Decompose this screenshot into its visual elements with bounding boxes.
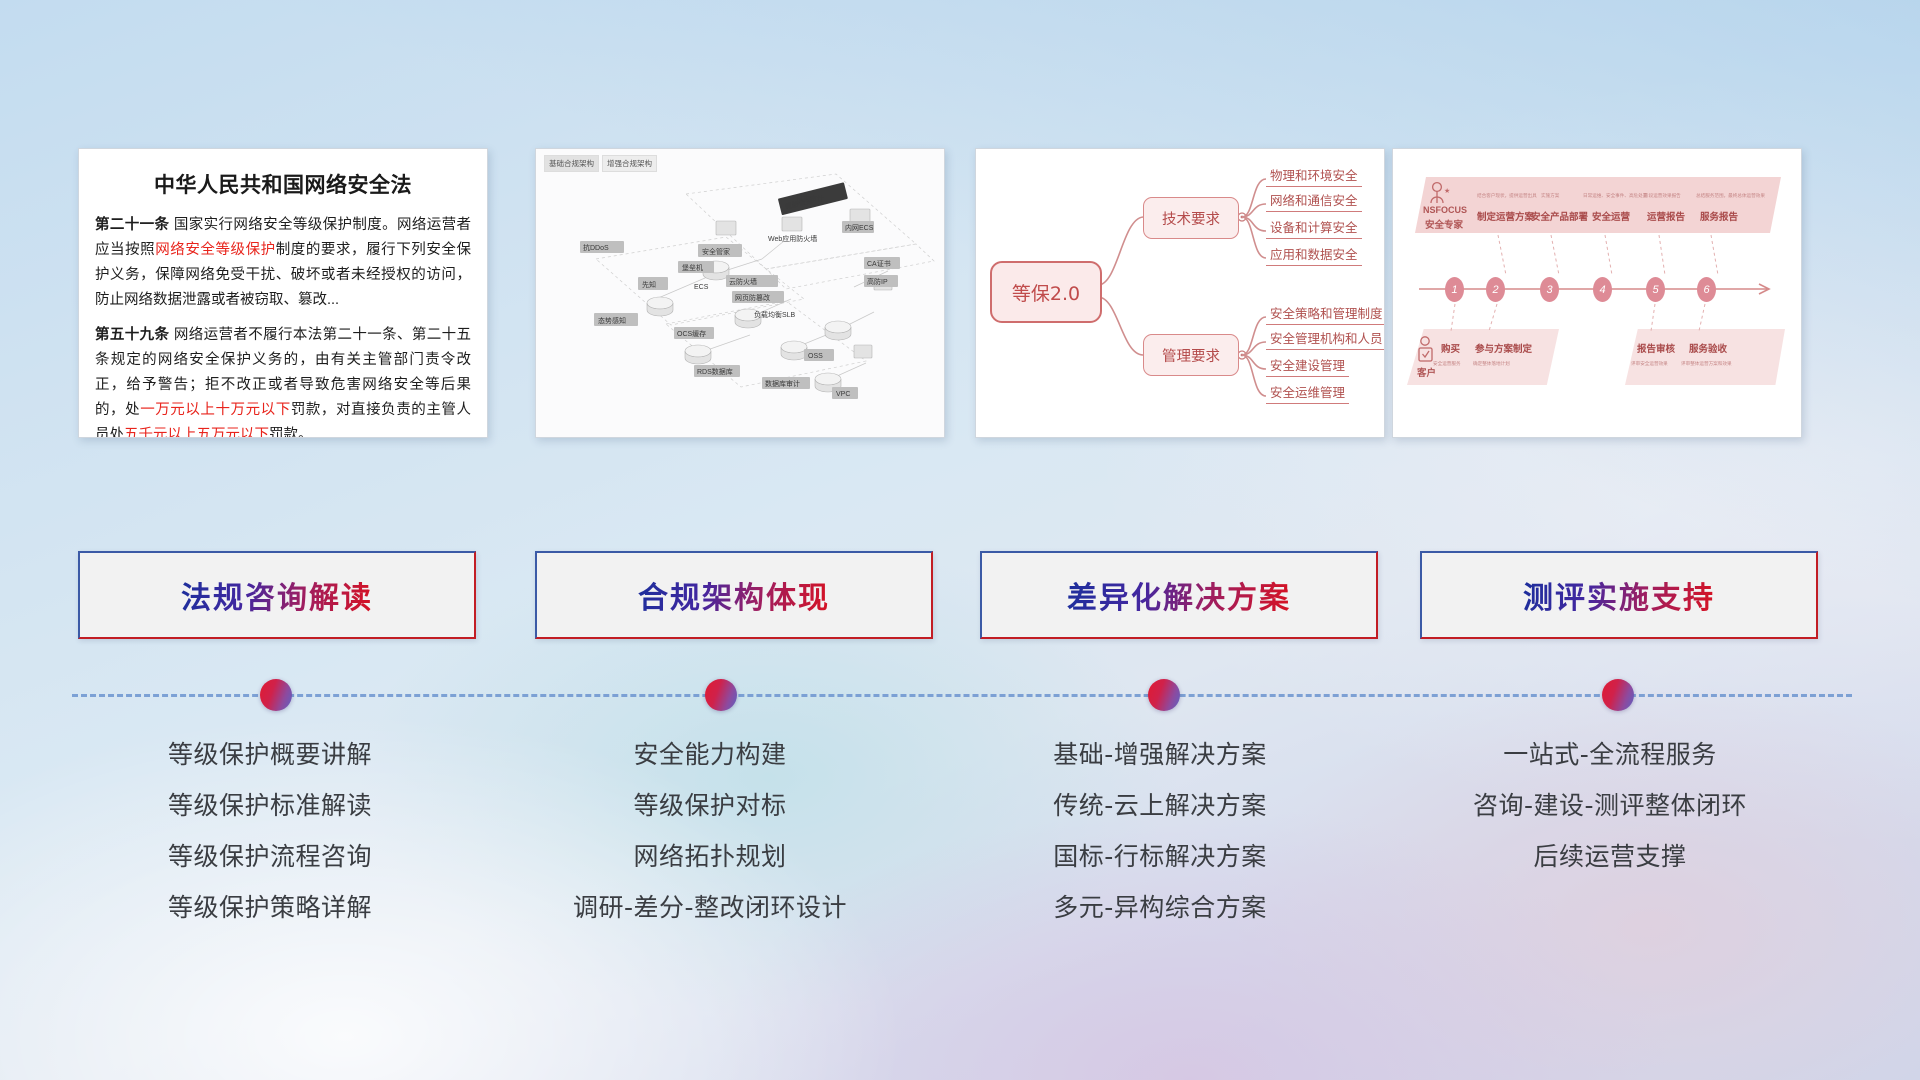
svg-text:安全管家: 安全管家 — [702, 247, 730, 256]
mindmap-canvas: 等保2.0 技术要求 物理和环境安全 网络和通信安全 设备和计算安全 应用和数据… — [976, 149, 1384, 437]
nsfocus-top-step-5: 服务报告 — [1700, 209, 1738, 223]
law-paragraph-59: 第五十九条 网络运营者不履行本法第二十一条、第二十五条规定的网络安全保护义务的，… — [95, 323, 471, 438]
nsfocus-bottom-step-1: 购买 — [1441, 341, 1460, 355]
list-item: 等级保护标准解读 — [60, 793, 480, 818]
mindmap-leaf-tech-1: 物理和环境安全 — [1266, 165, 1362, 187]
expert-person-icon — [1431, 183, 1443, 203]
bottom-list-2: 安全能力构建 等级保护对标 网络拓扑规划 调研-差分-整改闭环设计 — [500, 742, 920, 946]
expert-star-icon: ★ — [1444, 187, 1450, 195]
bottom-list-1: 等级保护概要讲解 等级保护标准解读 等级保护流程咨询 等级保护策略详解 — [60, 742, 480, 946]
svg-text:网页防篡改: 网页防篡改 — [735, 293, 770, 302]
law-article-59-text-c: 罚款。 — [269, 427, 313, 439]
law-body: 中华人民共和国网络安全法 第二十一条 国家实行网络安全等级保护制度。网络运营者应… — [79, 149, 487, 437]
section-title-box-1[interactable]: 法规咨询解读 — [78, 551, 476, 639]
timeline-node-6: 6 — [1697, 277, 1716, 302]
nsfocus-top-step-4: 运营报告 — [1647, 209, 1685, 223]
timeline-dashed-line — [72, 694, 1852, 697]
customer-person-icon — [1419, 337, 1432, 361]
nsfocus-top-step-3: 安全运营 — [1592, 209, 1630, 223]
svg-text:负载均衡SLB: 负载均衡SLB — [754, 310, 796, 319]
mindmap-leaf-mgmt-2: 安全管理机构和人员 — [1266, 328, 1385, 350]
rail-node-1[interactable] — [260, 679, 292, 711]
mindmap-leaf-mgmt-1: 安全策略和管理制度 — [1266, 303, 1385, 325]
list-item: 等级保护对标 — [500, 793, 920, 818]
svg-text:OSS: OSS — [808, 353, 823, 360]
arch-node-labels: 安全管家 先知 态势感知 堡垒机 抗DDoS 网页防篡改 OCS缓存 RDS数据… — [580, 194, 900, 399]
section-title-label-2: 合规架构体现 — [638, 573, 830, 617]
section-title-row: 法规咨询解读 合规架构体现 差异化解决方案 测评实施支持 — [0, 551, 1920, 641]
nsfocus-bottom-sub-4: 评审整体运营方案和效果 — [1681, 361, 1732, 367]
timeline-node-5: 5 — [1646, 277, 1665, 302]
architecture-canvas: 基础合规架构 增强合规架构 — [536, 149, 944, 437]
section-title-box-4[interactable]: 测评实施支持 — [1420, 551, 1818, 639]
nsfocus-customer-label: 客户 — [1417, 365, 1436, 379]
svg-text:态势感知: 态势感知 — [598, 316, 626, 325]
mindmap-leaf-mgmt-3: 安全建设管理 — [1266, 355, 1349, 377]
list-item: 国标-行标解决方案 — [950, 844, 1370, 869]
svg-text:云防火墙: 云防火墙 — [729, 277, 757, 286]
rail-node-2[interactable] — [705, 679, 737, 711]
nsfocus-bottom-step-2: 参与方案制定 — [1475, 341, 1532, 355]
nsfocus-top-sub-5: 总结服务范围，最终总体运营效果 — [1696, 193, 1765, 199]
list-item: 等级保护流程咨询 — [60, 844, 480, 869]
list-item: 基础-增强解决方案 — [950, 742, 1370, 767]
bottom-list-row: 等级保护概要讲解 等级保护标准解读 等级保护流程咨询 等级保护策略详解 安全能力… — [0, 742, 1920, 962]
list-item: 一站式-全流程服务 — [1400, 742, 1820, 767]
rail-node-4[interactable] — [1602, 679, 1634, 711]
mindmap-root: 等保2.0 — [990, 261, 1102, 323]
section-title-box-2[interactable]: 合规架构体现 — [535, 551, 933, 639]
timeline-node-3: 3 — [1540, 277, 1559, 302]
list-item: 网络拓扑规划 — [500, 844, 920, 869]
timeline-node-4: 4 — [1593, 277, 1612, 302]
svg-text:CA证书: CA证书 — [867, 259, 891, 268]
svg-text:VPC: VPC — [836, 391, 850, 398]
nsfocus-top-sub-3: 日常运维、安全事件、高危处置 — [1583, 193, 1647, 199]
law-article-59-highlight-2: 五千元以上五万元以下 — [124, 427, 269, 439]
section-title-box-3[interactable]: 差异化解决方案 — [980, 551, 1378, 639]
nsfocus-top-step-2: 安全产品部署 — [1531, 209, 1588, 223]
svg-text:堡垒机: 堡垒机 — [682, 263, 703, 272]
nsfocus-top-sub-1: 结合客户现状，提供运营出具 — [1477, 193, 1537, 199]
nsfocus-bottom-step-4: 服务验收 — [1689, 341, 1727, 355]
svg-text:内网ECS: 内网ECS — [845, 223, 874, 232]
nsfocus-brand: NSFOCUS — [1423, 205, 1467, 215]
rail-node-3[interactable] — [1148, 679, 1180, 711]
mindmap-branch-technical: 技术要求 — [1143, 197, 1239, 239]
bottom-list-3: 基础-增强解决方案 传统-云上解决方案 国标-行标解决方案 多元-异构综合方案 — [950, 742, 1370, 946]
card-nsfocus-timeline[interactable]: ★ — [1392, 148, 1802, 438]
law-article-21-label: 第二十一条 — [95, 217, 169, 233]
svg-text:日志审计: 日志审计 — [796, 194, 824, 203]
nsfocus-top-step-1: 制定运营方案 — [1477, 209, 1534, 223]
list-item: 安全能力构建 — [500, 742, 920, 767]
timeline-node-1: 1 — [1445, 277, 1464, 302]
section-title-label-3: 差异化解决方案 — [1067, 573, 1291, 617]
nsfocus-top-sub-4: 阶段运营效果报告 — [1644, 193, 1681, 199]
mindmap-leaf-mgmt-4: 安全运维管理 — [1266, 382, 1349, 404]
mindmap-leaf-tech-3: 设备和计算安全 — [1266, 217, 1362, 239]
list-item: 调研-差分-整改闭环设计 — [500, 895, 920, 920]
timeline-node-2: 2 — [1486, 277, 1505, 302]
nsfocus-top-sub-2: 实施方案 — [1541, 193, 1559, 199]
svg-text:抗DDoS: 抗DDoS — [583, 243, 609, 252]
list-item: 多元-异构综合方案 — [950, 895, 1370, 920]
law-article-59-label: 第五十九条 — [95, 327, 169, 343]
mindmap-leaf-tech-4: 应用和数据安全 — [1266, 244, 1362, 266]
svg-text:数据库审计: 数据库审计 — [765, 379, 800, 388]
card-law-text[interactable]: 中华人民共和国网络安全法 第二十一条 国家实行网络安全等级保护制度。网络运营者应… — [78, 148, 488, 438]
mindmap-leaf-tech-2: 网络和通信安全 — [1266, 190, 1362, 212]
section-title-label-4: 测评实施支持 — [1523, 573, 1715, 617]
bottom-list-4: 一站式-全流程服务 咨询-建设-测评整体闭环 后续运营支撑 — [1400, 742, 1820, 895]
card-architecture-diagram[interactable]: 基础合规架构 增强合规架构 — [535, 148, 945, 438]
svg-text:ECS: ECS — [694, 284, 709, 291]
list-item: 咨询-建设-测评整体闭环 — [1400, 793, 1820, 818]
nsfocus-brand-sub: 安全专家 — [1425, 217, 1463, 231]
law-article-59-highlight-1: 一万元以上十万元以下 — [140, 402, 291, 418]
nsfocus-bottom-sub-2: 确定整体落地计划 — [1473, 361, 1510, 367]
svg-text:高防IP: 高防IP — [867, 277, 888, 286]
svg-text:OCS缓存: OCS缓存 — [677, 329, 706, 338]
list-item: 等级保护策略详解 — [60, 895, 480, 920]
timeline-rail — [72, 694, 1852, 696]
top-card-row: 中华人民共和国网络安全法 第二十一条 国家实行网络安全等级保护制度。网络运营者应… — [0, 148, 1920, 443]
nsfocus-bottom-sub-3: 评审安全运营效果 — [1631, 361, 1668, 367]
section-title-label-1: 法规咨询解读 — [181, 573, 373, 617]
nsfocus-bottom-sub-1: 安全运营服务 — [1433, 361, 1461, 367]
law-article-21-highlight: 网络安全等级保护 — [155, 242, 276, 258]
svg-text:Web应用防火墙: Web应用防火墙 — [768, 234, 817, 243]
architecture-svg: 威胁情报 — [536, 149, 944, 437]
card-mindmap[interactable]: 等保2.0 技术要求 物理和环境安全 网络和通信安全 设备和计算安全 应用和数据… — [975, 148, 1385, 438]
law-paragraph-21: 第二十一条 国家实行网络安全等级保护制度。网络运营者应当按照网络安全等级保护制度… — [95, 213, 471, 313]
list-item: 传统-云上解决方案 — [950, 793, 1370, 818]
nsfocus-bottom-step-3: 报告审核 — [1637, 341, 1675, 355]
svg-text:先知: 先知 — [642, 280, 656, 289]
list-item: 后续运营支撑 — [1400, 844, 1820, 869]
list-item: 等级保护概要讲解 — [60, 742, 480, 767]
nsfocus-canvas: ★ — [1393, 149, 1801, 437]
law-title: 中华人民共和国网络安全法 — [95, 169, 471, 199]
svg-text:RDS数据库: RDS数据库 — [697, 367, 733, 376]
mindmap-branch-management: 管理要求 — [1143, 334, 1239, 376]
slide-stage: 中华人民共和国网络安全法 第二十一条 国家实行网络安全等级保护制度。网络运营者应… — [0, 0, 1920, 1080]
